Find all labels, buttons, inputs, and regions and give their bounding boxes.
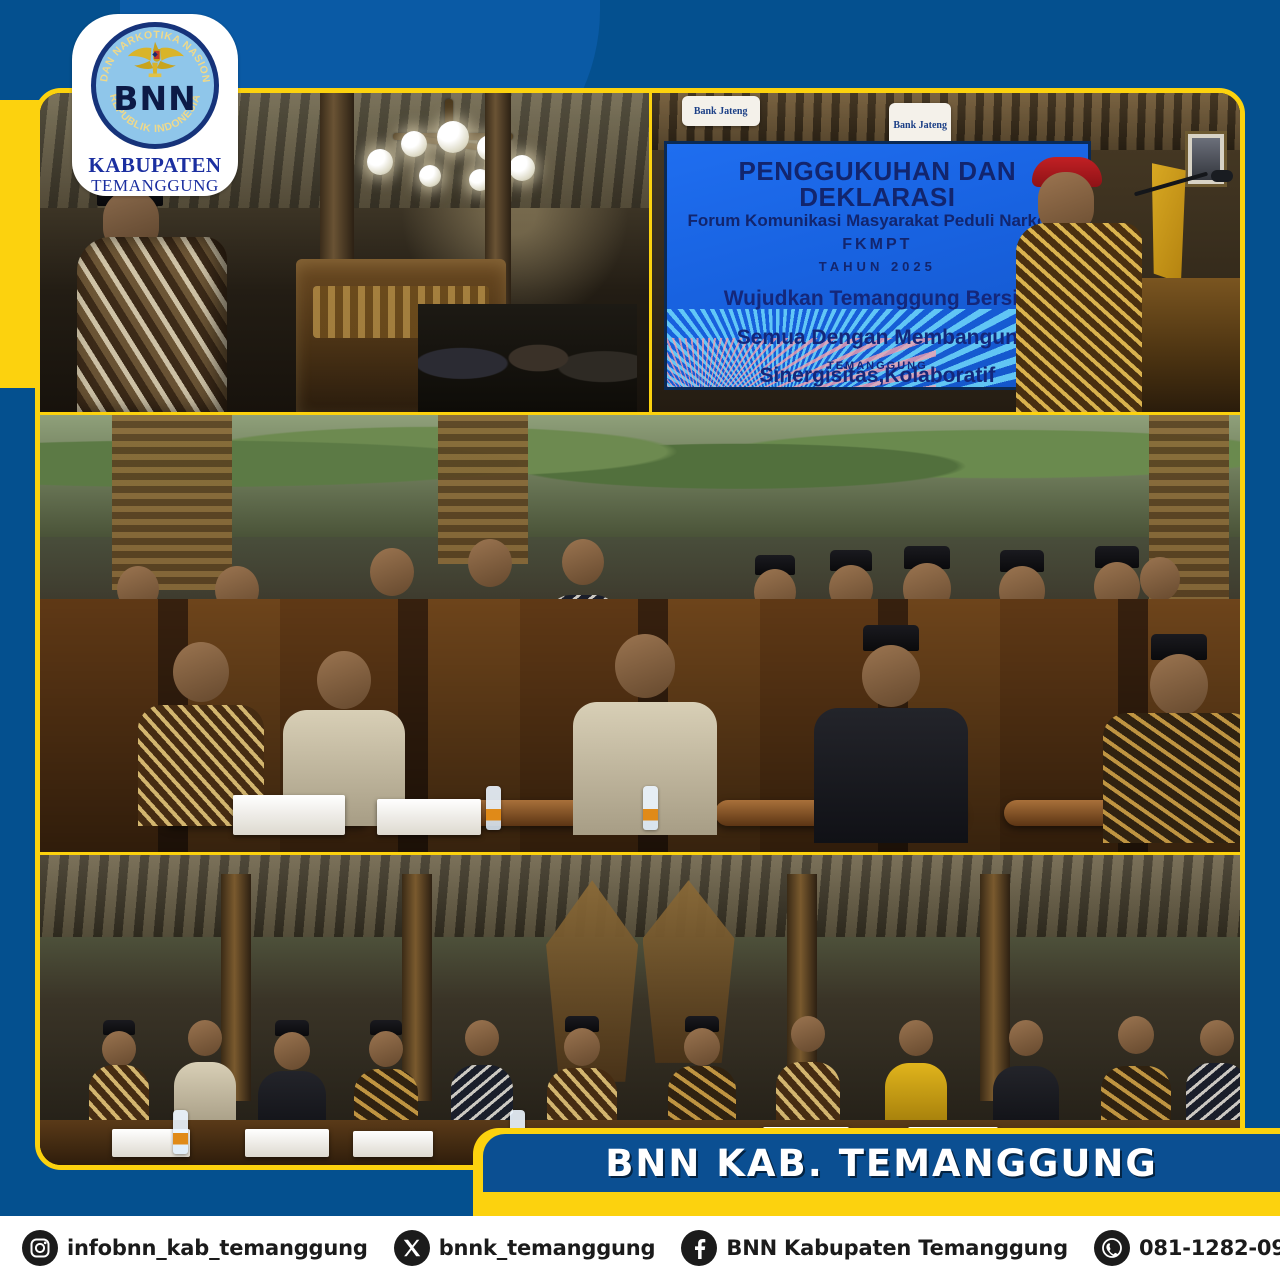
person xyxy=(257,1020,327,1135)
water-bottle xyxy=(643,786,658,830)
bnn-emblem: BADAN NARKOTIKA NASIONAL REPUBLIK INDONE… xyxy=(91,22,219,149)
person xyxy=(992,1020,1060,1130)
facebook-icon[interactable] xyxy=(681,1230,717,1266)
gift-box xyxy=(233,795,345,835)
facebook-page-name: BNN Kabupaten Temanggung xyxy=(726,1236,1068,1260)
social-account-instagram[interactable]: infobnn_kab_temanggung xyxy=(22,1230,368,1266)
instagram-icon[interactable] xyxy=(22,1230,58,1266)
person xyxy=(1185,1020,1245,1121)
person xyxy=(811,625,971,844)
gift-box xyxy=(245,1129,329,1157)
audience-silhouettes xyxy=(418,304,637,412)
person xyxy=(884,1020,948,1121)
photo-collage: Bank Jateng Bank Jateng PENGGUKUHAN DAN … xyxy=(35,88,1245,1170)
sponsor-logo-left: Bank Jateng xyxy=(682,96,760,126)
x-handle: bnnk_temanggung xyxy=(439,1236,656,1260)
title-banner: BNN KAB. TEMANGGUNG xyxy=(473,1128,1280,1216)
water-bottle xyxy=(173,1110,188,1154)
photo-top-right-scene: Bank Jateng Bank Jateng PENGGUKUHAN DAN … xyxy=(652,93,1245,412)
social-account-whatsapp[interactable]: 081-1282-0901 xyxy=(1094,1230,1280,1266)
orator-figure xyxy=(1000,157,1150,412)
bnn-logo-badge: BADAN NARKOTIKA NASIONAL REPUBLIK INDONE… xyxy=(72,14,238,196)
poster-root: BADAN NARKOTIKA NASIONAL REPUBLIK INDONE… xyxy=(0,0,1280,1280)
social-account-facebook[interactable]: BNN Kabupaten Temanggung xyxy=(681,1230,1068,1266)
person xyxy=(1100,634,1245,844)
whatsapp-number: 081-1282-0901 xyxy=(1139,1236,1280,1260)
water-bottle xyxy=(486,786,501,830)
person xyxy=(1100,1016,1172,1135)
person xyxy=(546,1016,618,1135)
logo-temanggung-label: TEMANGGUNG xyxy=(91,176,219,196)
x-twitter-icon[interactable] xyxy=(394,1230,430,1266)
speaker-figure xyxy=(77,176,242,412)
logo-kabupaten-label: KABUPATEN xyxy=(88,155,221,176)
person xyxy=(353,1020,419,1130)
whatsapp-icon[interactable] xyxy=(1094,1230,1130,1266)
garuda-pancasila-icon xyxy=(126,39,184,79)
person xyxy=(450,1020,514,1126)
person xyxy=(667,1016,737,1131)
social-account-x[interactable]: bnnk_temanggung xyxy=(394,1230,656,1266)
photo-bottom xyxy=(40,855,1245,1170)
photo-bottom-scene xyxy=(40,855,1245,1170)
photo-middle-scene xyxy=(40,415,1245,852)
banner-blue-plate: BNN KAB. TEMANGGUNG xyxy=(483,1134,1280,1192)
footer-social-bar: infobnn_kab_temanggung bnnk_temanggung B… xyxy=(0,1216,1280,1280)
instagram-handle: infobnn_kab_temanggung xyxy=(67,1236,368,1260)
gift-box xyxy=(353,1131,433,1157)
person xyxy=(775,1016,841,1126)
photo-top-right: Bank Jateng Bank Jateng PENGGUKUHAN DAN … xyxy=(652,93,1245,415)
microphone-head xyxy=(1211,170,1233,182)
gift-box xyxy=(377,799,481,835)
photo-middle xyxy=(40,415,1245,855)
banner-title: BNN KAB. TEMANGGUNG xyxy=(605,1142,1158,1185)
bnn-acronym: BNN xyxy=(113,79,196,118)
person xyxy=(88,1020,150,1121)
chandelier-icon xyxy=(357,99,557,219)
